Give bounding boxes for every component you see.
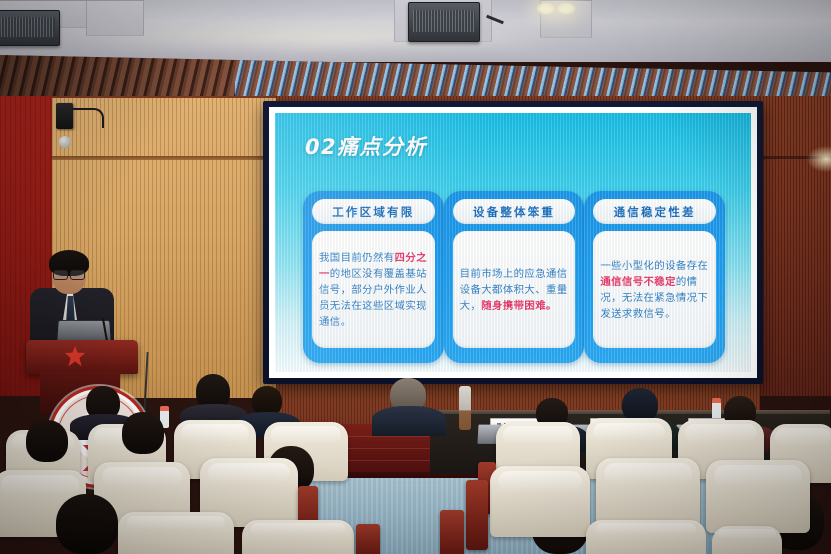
- card-title: 工作区域有限: [332, 204, 414, 220]
- card-body-text: 我国目前仍然有四分之一的地区没有覆盖基站信号，部分户外作业人员无法在这些区域实现…: [319, 250, 428, 330]
- wall-light-icon: [807, 146, 831, 172]
- card-body: 目前市场上的应急通信设备大都体积大、重量大，随身携带困难。: [453, 231, 576, 348]
- card-body-text: 目前市场上的应急通信设备大都体积大、重量大，随身携带困难。: [460, 266, 569, 314]
- ceiling-light-icon: [536, 2, 556, 15]
- card-title: 通信稳定性差: [614, 204, 696, 220]
- audience-chair: [490, 466, 590, 537]
- card-body: 一些小型化的设备存在通信信号不稳定的情况，无法在紧急情况下发送求救信号。: [593, 231, 716, 348]
- speaker-cable: [72, 108, 104, 128]
- audience-chair: [242, 520, 354, 554]
- slide: 02痛点分析 工作区域有限 我国目前仍然有四分之一的地区没有覆盖基站信号，部分户…: [275, 113, 751, 372]
- thermos-icon: [459, 386, 471, 430]
- slide-card: 通信稳定性差 一些小型化的设备存在通信信号不稳定的情况，无法在紧急情况下发送求救…: [584, 191, 725, 363]
- slide-title: 02痛点分析: [305, 131, 427, 161]
- audience-chair: [118, 512, 234, 554]
- card-title: 设备整体笨重: [473, 204, 555, 220]
- ceiling-panel: [86, 0, 144, 36]
- card-title-pill: 通信稳定性差: [593, 199, 716, 224]
- projector-icon: [0, 10, 60, 46]
- card-body-text: 一些小型化的设备存在通信信号不稳定的情况，无法在紧急情况下发送求救信号。: [600, 258, 709, 322]
- wall-dark-wood-right: [760, 96, 831, 396]
- projector-icon: [408, 2, 480, 42]
- presentation-screen[interactable]: 02痛点分析 工作区域有限 我国目前仍然有四分之一的地区没有覆盖基站信号，部分户…: [263, 101, 763, 384]
- screen-surface: 02痛点分析 工作区域有限 我国目前仍然有四分之一的地区没有覆盖基站信号，部分户…: [269, 107, 757, 378]
- audience-chair: [712, 526, 782, 554]
- chair-armrest: [356, 524, 380, 554]
- ceiling-light-icon: [556, 2, 576, 15]
- wall-fixture-icon: [59, 136, 71, 148]
- wall-speaker-icon: [56, 103, 73, 129]
- conference-hall-photo: 02痛点分析 工作区域有限 我国目前仍然有四分之一的地区没有覆盖基站信号，部分户…: [0, 0, 831, 554]
- chair-armrest: [440, 510, 464, 554]
- card-body: 我国目前仍然有四分之一的地区没有覆盖基站信号，部分户外作业人员无法在这些区域实现…: [312, 231, 435, 348]
- audience-chair: [586, 520, 706, 554]
- ceiling: [0, 0, 831, 62]
- podium: [26, 340, 138, 374]
- glasses-icon: [53, 270, 85, 278]
- chair-armrest: [466, 480, 488, 550]
- water-bottle-icon: [712, 398, 721, 420]
- wall-seam: [48, 156, 276, 160]
- card-title-pill: 工作区域有限: [312, 199, 435, 224]
- card-title-pill: 设备整体笨重: [453, 199, 576, 224]
- slide-card: 工作区域有限 我国目前仍然有四分之一的地区没有覆盖基站信号，部分户外作业人员无法…: [303, 191, 444, 363]
- slide-card: 设备整体笨重 目前市场上的应急通信设备大都体积大、重量大，随身携带困难。: [444, 191, 585, 363]
- slide-card-list: 工作区域有限 我国目前仍然有四分之一的地区没有覆盖基站信号，部分户外作业人员无法…: [303, 191, 725, 363]
- audience-chair: [706, 460, 810, 533]
